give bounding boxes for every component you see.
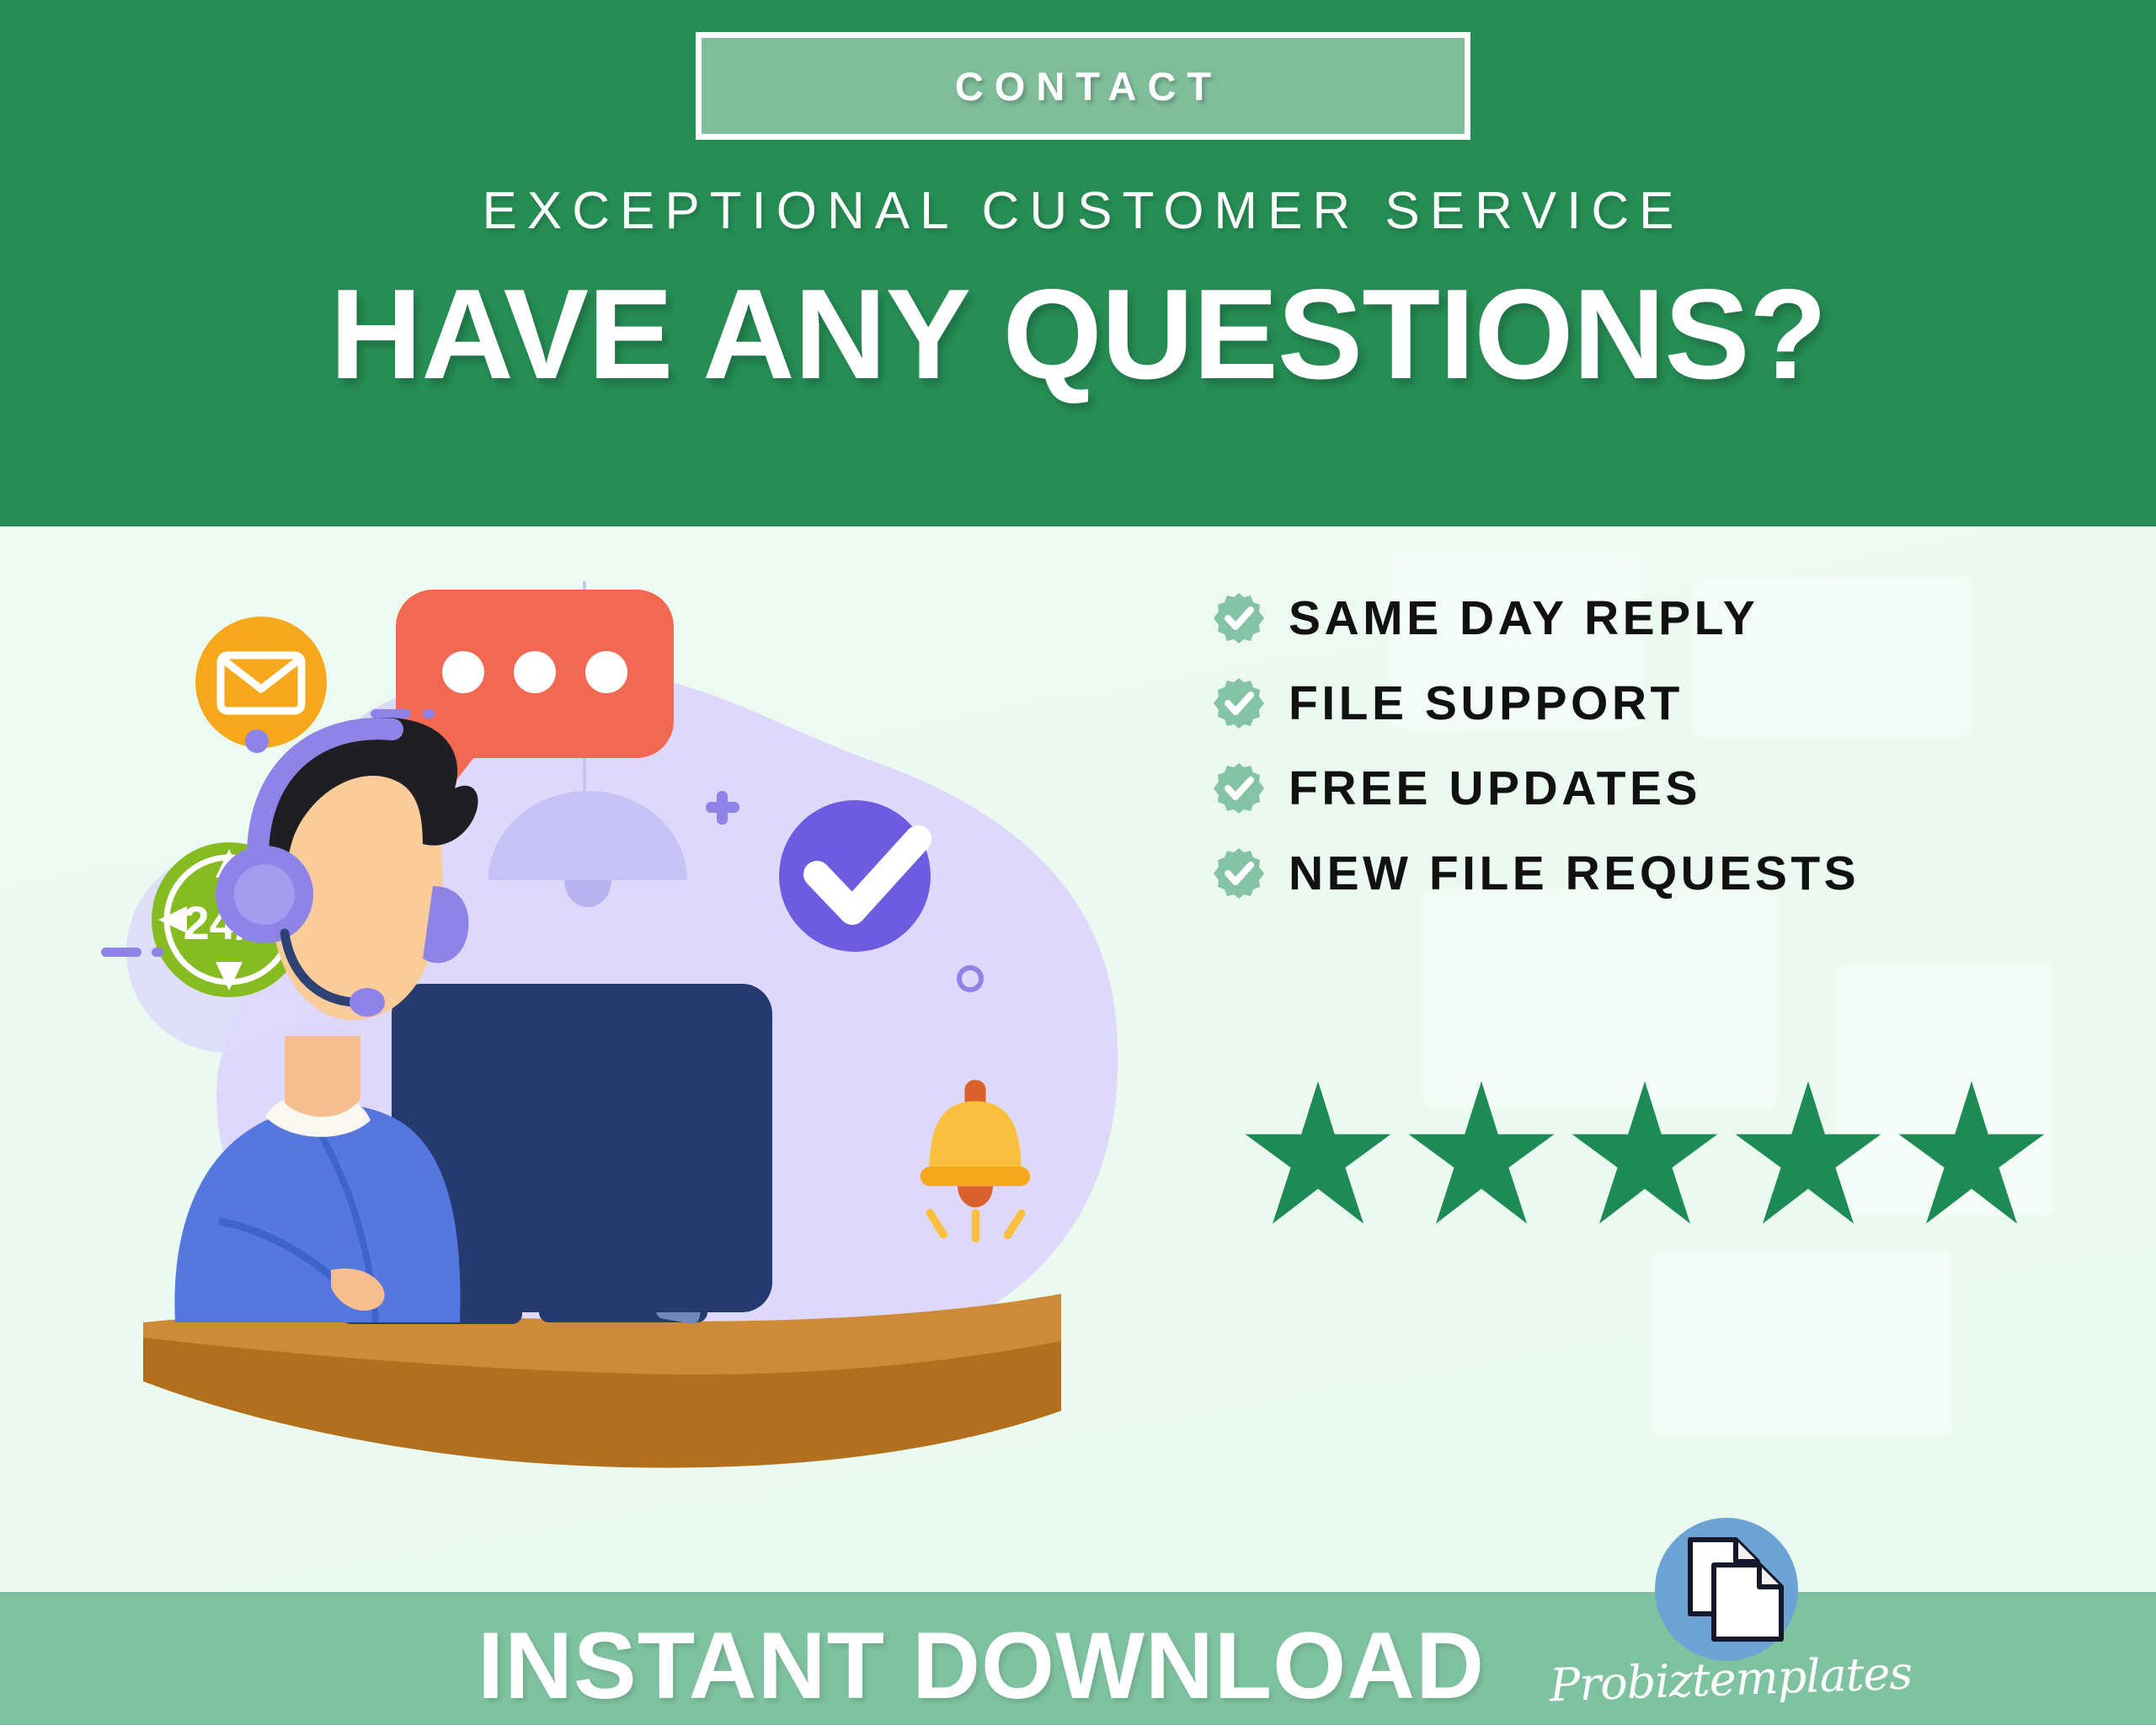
- list-item: NEW FILE REQUESTS: [1213, 845, 2055, 902]
- brand-logo: [1655, 1518, 1798, 1661]
- star-icon: [1406, 1078, 1557, 1230]
- check-badge-icon: [1213, 847, 1265, 900]
- check-badge-icon: [1213, 592, 1265, 644]
- decor-dash: [371, 709, 411, 718]
- star-icon: [1569, 1078, 1721, 1230]
- bg-ghost-shape: [1651, 1251, 1954, 1436]
- documents-copy-icon: [1655, 1518, 1798, 1661]
- feature-list: SAME DAY REPLY FILE SUPPORT FREE UPDATES…: [1213, 590, 2055, 930]
- decor-dash: [423, 709, 435, 718]
- contact-badge: CONTACT: [696, 32, 1470, 140]
- support-agent-illustration: 24/7: [93, 581, 1196, 1558]
- star-icon: [1732, 1078, 1884, 1230]
- check-badge-icon: [1213, 762, 1265, 814]
- feature-label: FREE UPDATES: [1289, 761, 1701, 816]
- feature-label: FILE SUPPORT: [1289, 676, 1684, 731]
- list-item: FILE SUPPORT: [1213, 675, 2055, 732]
- feature-label: NEW FILE REQUESTS: [1289, 846, 1860, 901]
- star-rating: [1242, 1078, 2047, 1230]
- contact-badge-label: CONTACT: [944, 63, 1222, 109]
- decor-dash: [152, 948, 163, 957]
- star-icon: [1896, 1078, 2047, 1230]
- feature-label: SAME DAY REPLY: [1289, 590, 1758, 646]
- decor-dash: [101, 948, 141, 957]
- decor-dot: [245, 729, 269, 753]
- list-item: SAME DAY REPLY: [1213, 590, 2055, 647]
- list-item: FREE UPDATES: [1213, 760, 2055, 817]
- check-badge-icon: [1213, 677, 1265, 729]
- page-title: HAVE ANY QUESTIONS?: [0, 268, 2156, 403]
- subheadline: EXCEPTIONAL CUSTOMER SERVICE: [0, 181, 2156, 241]
- star-icon: [1242, 1078, 1394, 1230]
- header-banner: CONTACT EXCEPTIONAL CUSTOMER SERVICE HAV…: [0, 0, 2156, 526]
- email-icon: [195, 617, 327, 748]
